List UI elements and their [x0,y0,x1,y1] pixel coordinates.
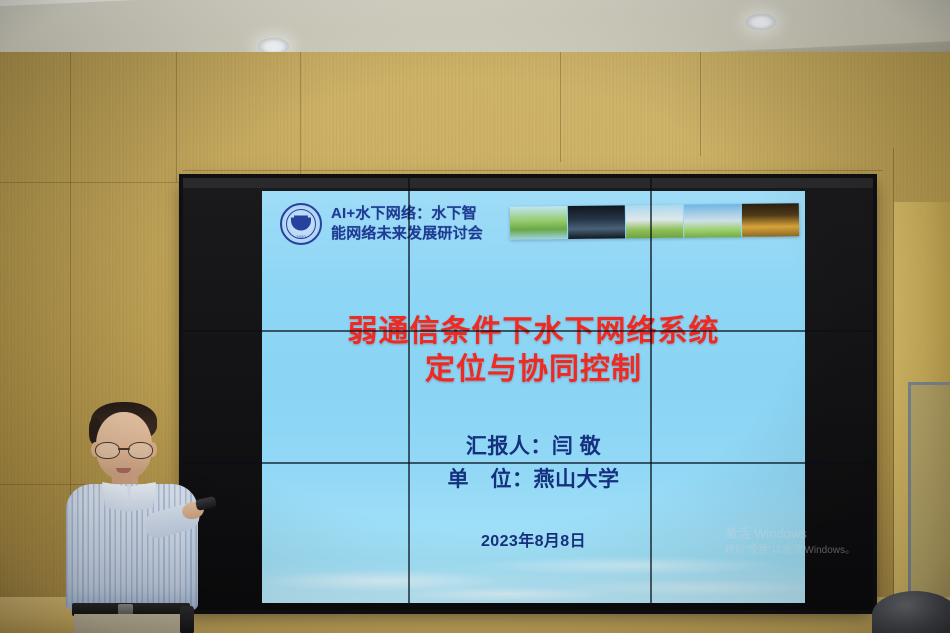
presenter-pocket-item [180,606,194,633]
slide-presenter-info: 汇报人：闫 敬 单 位：燕山大学 [262,431,805,496]
wall-seam [183,170,883,171]
slide-header: 1920 AI+水下网络：水下智 能网络未来发展研讨会 [280,203,483,245]
wall-seam [300,52,301,178]
ceiling-downlight-icon [746,14,776,30]
emblem-year-label: 1920 [296,234,306,239]
glasses-lens [128,442,153,459]
wall-seam [176,52,177,182]
university-emblem-icon: 1920 [280,203,322,245]
video-wall-top-bezel [183,178,873,188]
shirt-collar [102,482,130,512]
eyeglasses-icon [95,442,153,457]
wall-seam [700,52,701,156]
wall-seam [0,182,183,183]
led-video-wall[interactable]: 1920 AI+水下网络：水下智 能网络未来发展研讨会 弱通信条件下水下网络系统… [183,178,873,610]
campus-night-photo [568,205,625,239]
campus-photo-strip [510,203,799,240]
conference-title: AI+水下网络：水下智 能网络未来发展研讨会 [331,204,483,244]
audience-member-head [872,591,950,633]
presentation-slide: 1920 AI+水下网络：水下智 能网络未来发展研讨会 弱通信条件下水下网络系统… [262,191,805,603]
presenter-trousers [74,614,190,633]
slide-date: 2023年8月8日 [262,527,805,551]
lecture-hall-photo: 1920 AI+水下网络：水下智 能网络未来发展研讨会 弱通信条件下水下网络系统… [0,0,950,633]
campus-building-photo [626,205,683,239]
glasses-lens [95,442,120,459]
campus-dormitory-photo [684,204,741,238]
campus-bridge-night-photo [742,203,799,237]
wall-seam [560,52,561,162]
slide-main-title: 弱通信条件下水下网络系统 定位与协同控制 [262,313,805,390]
emblem-mark-icon [291,218,311,231]
campus-waterfront-photo [510,206,567,240]
presenter-speaker [58,398,208,633]
shirt-collar [128,482,156,512]
